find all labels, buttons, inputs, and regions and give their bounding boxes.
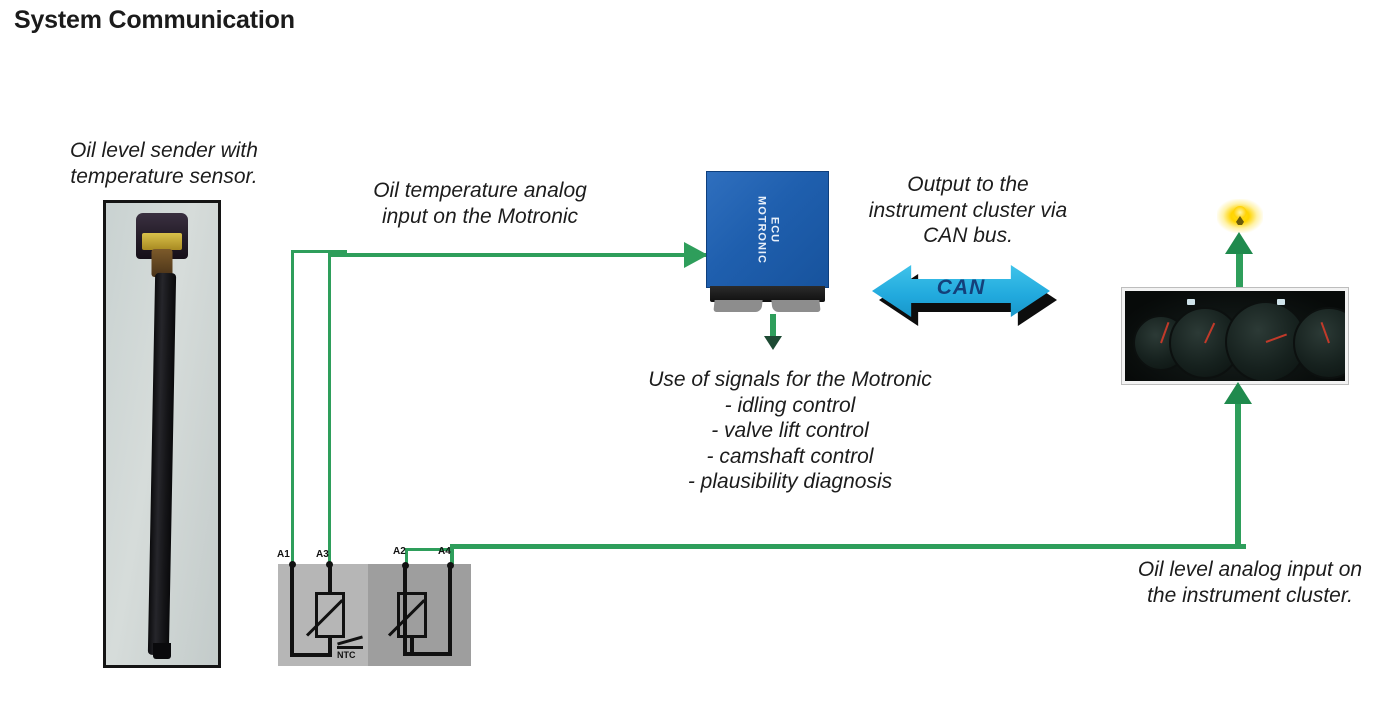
needle	[1321, 322, 1330, 343]
ecu-label: ECU MOTRONIC	[755, 196, 780, 264]
instrument-cluster	[1122, 288, 1348, 384]
ecu-motronic: ECU MOTRONIC	[706, 171, 829, 303]
arrow-to-warning-lamp	[1225, 232, 1253, 254]
caption-oil-temperature-input: Oil temperature analog input on the Motr…	[350, 178, 610, 229]
can-bus-arrow: CAN	[872, 265, 1062, 327]
cluster-indicator-left	[1187, 299, 1195, 305]
wire-cluster-to-lamp	[1236, 250, 1243, 288]
schem-wire-a4	[448, 565, 452, 595]
schem-wire-left-bottom	[290, 653, 332, 657]
wire-ecu-down	[770, 314, 776, 338]
arrow-to-ecu	[684, 242, 708, 268]
schem-wire-a1	[290, 564, 294, 656]
needle	[1266, 334, 1287, 343]
page-title: System Communication	[14, 6, 295, 35]
ecu-label-line1: ECU	[768, 216, 780, 242]
oil-level-sender-photo	[103, 200, 221, 668]
caption-signal-usage: Use of signals for the Motronic - idling…	[600, 367, 980, 495]
needle	[1160, 322, 1169, 343]
arrow-ecu-to-signals	[764, 336, 782, 350]
schem-wire-right-lower	[410, 636, 414, 656]
wire-cluster-run-vertical	[1235, 400, 1241, 548]
needle	[1204, 323, 1215, 344]
schem-wire-a4-lower	[448, 594, 452, 656]
cluster-indicator-right	[1277, 299, 1285, 305]
wire-a3-vertical	[328, 253, 331, 562]
wire-cluster-run-horizontal	[450, 544, 1246, 549]
caption-can-output: Output to the instrument cluster via CAN…	[862, 172, 1074, 249]
ntc-symbol-bar2	[337, 646, 363, 649]
ecu-label-line2: MOTRONIC	[756, 196, 768, 264]
diagram-canvas: System Communication Oil level sender wi…	[0, 0, 1398, 717]
ntc-label: NTC	[337, 650, 356, 660]
sensor-gold-contact	[142, 233, 182, 250]
wire-motronic-run	[328, 253, 706, 257]
pin-label-a2: A2	[393, 546, 406, 557]
ecu-foot-right	[771, 300, 820, 312]
pin-label-a3: A3	[316, 549, 329, 560]
caption-oil-level-sender: Oil level sender with temperature sensor…	[44, 138, 284, 189]
oil-warning-lamp-icon	[1212, 196, 1268, 236]
arrow-to-instrument-cluster	[1224, 382, 1252, 404]
pin-label-a1: A1	[277, 549, 290, 560]
sensor-schematic: A1 A3 A2 A4 NTC	[275, 560, 475, 666]
sensor-probe-tip	[153, 643, 171, 659]
caption-oil-level-input: Oil level analog input on the instrument…	[1108, 557, 1392, 608]
schem-wire-a3	[328, 564, 332, 594]
can-arrow-label: CAN	[872, 276, 1050, 300]
ecu-foot-left	[713, 300, 762, 312]
pin-label-a4: A4	[438, 546, 451, 557]
ecu-body: ECU MOTRONIC	[706, 171, 829, 288]
wire-a1-vertical	[291, 250, 294, 562]
schem-wire-left-lower	[328, 636, 332, 656]
